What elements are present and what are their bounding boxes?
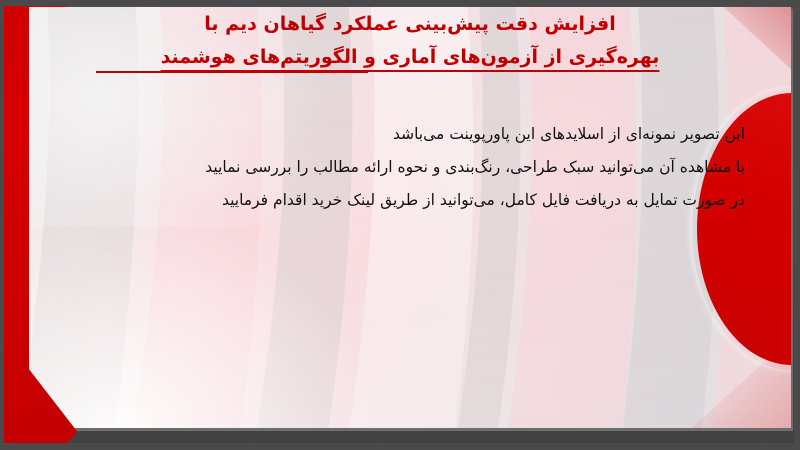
body-line-2: با مشاهده آن می‌توانید سبک طراحی، رنگ‌بن… — [70, 151, 745, 184]
frame-edge-bottom — [0, 443, 800, 450]
slide-title: افزایش دقت پیش‌بینی عملکرد گیاهان دیم با… — [60, 8, 760, 74]
slide-body-text: این تصویر نمونه‌ای از اسلایدهای این پاور… — [70, 118, 745, 217]
frame-edge-top — [0, 0, 800, 6]
slide-content: افزایش دقت پیش‌بینی عملکرد گیاهان دیم با… — [0, 0, 800, 450]
body-line-1: این تصویر نمونه‌ای از اسلایدهای این پاور… — [70, 118, 745, 151]
frame-edge-left — [0, 0, 4, 450]
slide-canvas: افزایش دقت پیش‌بینی عملکرد گیاهان دیم با… — [0, 0, 800, 450]
title-line-2: بهره‌گیری از آزمون‌های آماری و الگوریتم‌… — [60, 41, 760, 74]
frame-edge-right — [794, 0, 800, 450]
title-line-1: افزایش دقت پیش‌بینی عملکرد گیاهان دیم با — [60, 8, 760, 41]
title-underline-rule — [96, 71, 368, 73]
body-line-3: در صورت تمایل به دریافت فایل کامل، می‌تو… — [70, 184, 745, 217]
